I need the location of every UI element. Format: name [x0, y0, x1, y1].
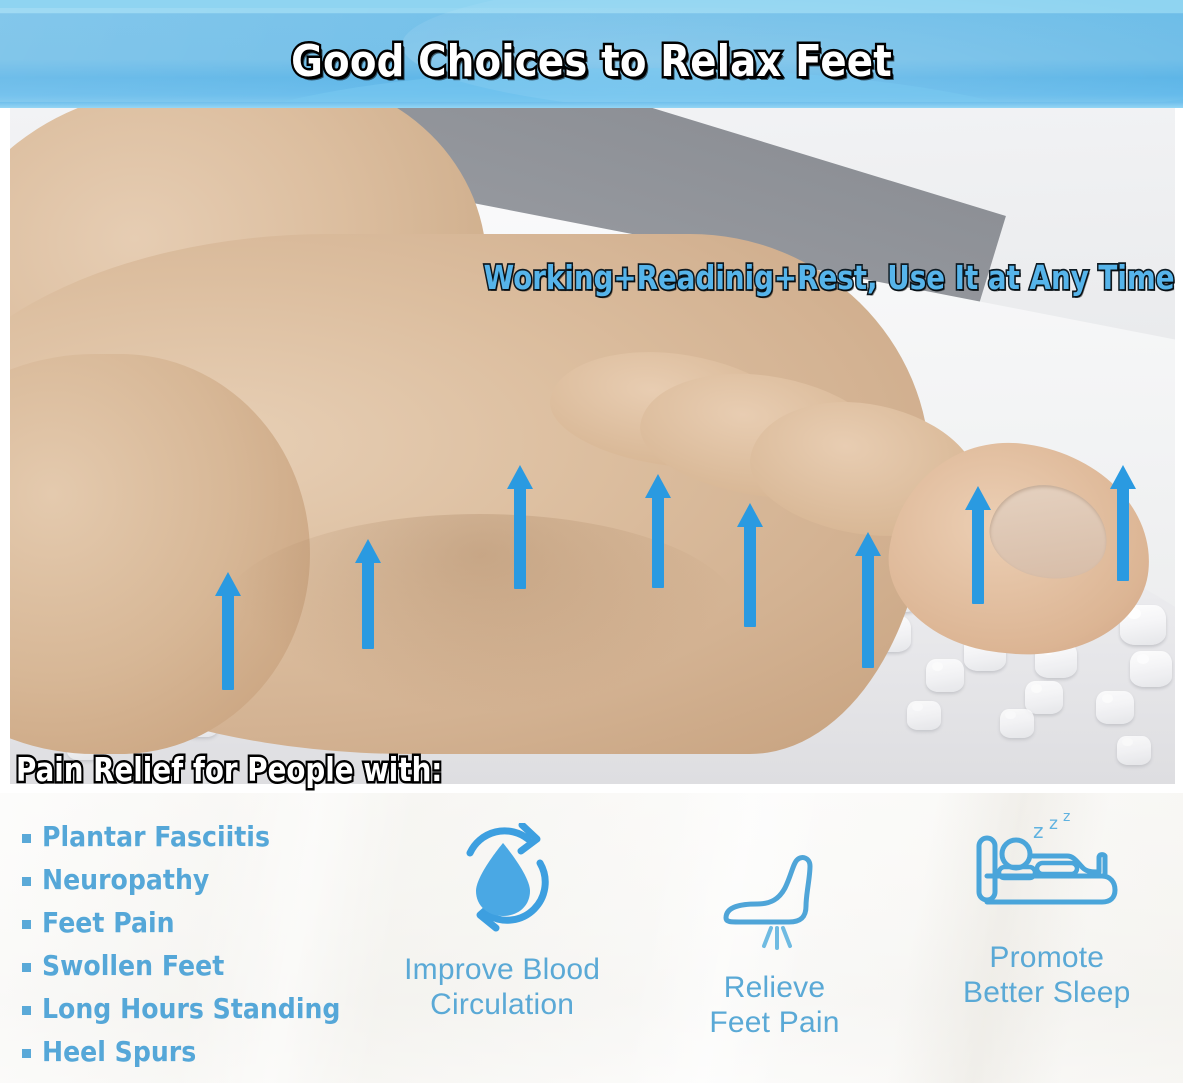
pressure-arrow-up-icon [737, 503, 763, 627]
pressure-arrow-up-icon [1110, 465, 1136, 581]
list-item: Swollen Feet [22, 944, 382, 987]
bullet-square-icon [22, 877, 31, 886]
benefit-caption-line2: Better Sleep [963, 976, 1131, 1009]
benefits-panel: Plantar Fasciitis Neuropathy Feet Pain S… [0, 793, 1183, 1083]
benefit-caption-line1: Promote [989, 941, 1104, 974]
benefit-caption: Promote Better Sleep [963, 940, 1131, 1011]
massage-nub [1130, 651, 1172, 687]
foot-photo [10, 114, 1130, 754]
svg-text:z: z [1049, 814, 1058, 834]
benefit-icons: Improve Blood Circulation Relieve Feet [366, 803, 1183, 1083]
pressure-arrow-up-icon [965, 486, 991, 604]
pressure-arrow-up-icon [507, 465, 533, 589]
list-item: Long Hours Standing [22, 987, 382, 1030]
benefit-relieve-feet-pain: Relieve Feet Pain [647, 803, 902, 1041]
condition-label: Feet Pain [42, 906, 175, 939]
product-infographic: Good Choices to Relax Feet [0, 0, 1183, 1083]
pressure-arrow-up-icon [215, 572, 241, 690]
blood-circulation-icon [436, 821, 568, 946]
bullet-square-icon [22, 1006, 31, 1015]
svg-text:z: z [1063, 810, 1070, 825]
condition-label: Neuropathy [42, 863, 209, 896]
list-item: Plantar Fasciitis [22, 815, 382, 858]
sleep-bed-icon: z z z [971, 809, 1123, 934]
conditions-list: Plantar Fasciitis Neuropathy Feet Pain S… [22, 815, 382, 1073]
list-item: Neuropathy [22, 858, 382, 901]
benefit-caption-line2: Feet Pain [709, 1006, 839, 1039]
condition-label: Plantar Fasciitis [42, 820, 270, 853]
foot-pain-icon [709, 839, 839, 964]
benefit-caption-line2: Circulation [430, 988, 574, 1021]
condition-label: Long Hours Standing [42, 992, 340, 1025]
page-title: Good Choices to Relax Feet [71, 0, 1112, 108]
benefit-caption: Improve Blood Circulation [404, 952, 600, 1023]
zzz-label: z [1033, 819, 1044, 843]
bullet-square-icon [22, 1049, 31, 1058]
pressure-arrow-up-icon [855, 532, 881, 668]
photo-scene [10, 108, 1175, 784]
bullet-square-icon [22, 834, 31, 843]
pressure-arrow-up-icon [645, 474, 671, 588]
list-item: Heel Spurs [22, 1030, 382, 1073]
pain-relief-heading: Pain Relief for People with: [16, 750, 442, 789]
benefit-caption-line1: Relieve [724, 971, 825, 1004]
benefit-promote-better-sleep: z z z Promote Better Sleep [919, 803, 1174, 1011]
bullet-square-icon [22, 920, 31, 929]
benefit-improve-blood-circulation: Improve Blood Circulation [375, 803, 630, 1023]
condition-label: Heel Spurs [42, 1035, 196, 1068]
benefit-caption: Relieve Feet Pain [709, 970, 839, 1041]
header-banner: Good Choices to Relax Feet [0, 0, 1183, 108]
benefit-caption-line1: Improve Blood [404, 953, 600, 986]
pressure-arrow-up-icon [355, 539, 381, 649]
product-photo: Working+Readinig+Rest, Use It at Any Tim… [0, 108, 1183, 793]
list-item: Feet Pain [22, 901, 382, 944]
bullet-square-icon [22, 963, 31, 972]
photo-subtitle: Working+Readinig+Rest, Use It at Any Tim… [484, 258, 1175, 297]
condition-label: Swollen Feet [42, 949, 224, 982]
